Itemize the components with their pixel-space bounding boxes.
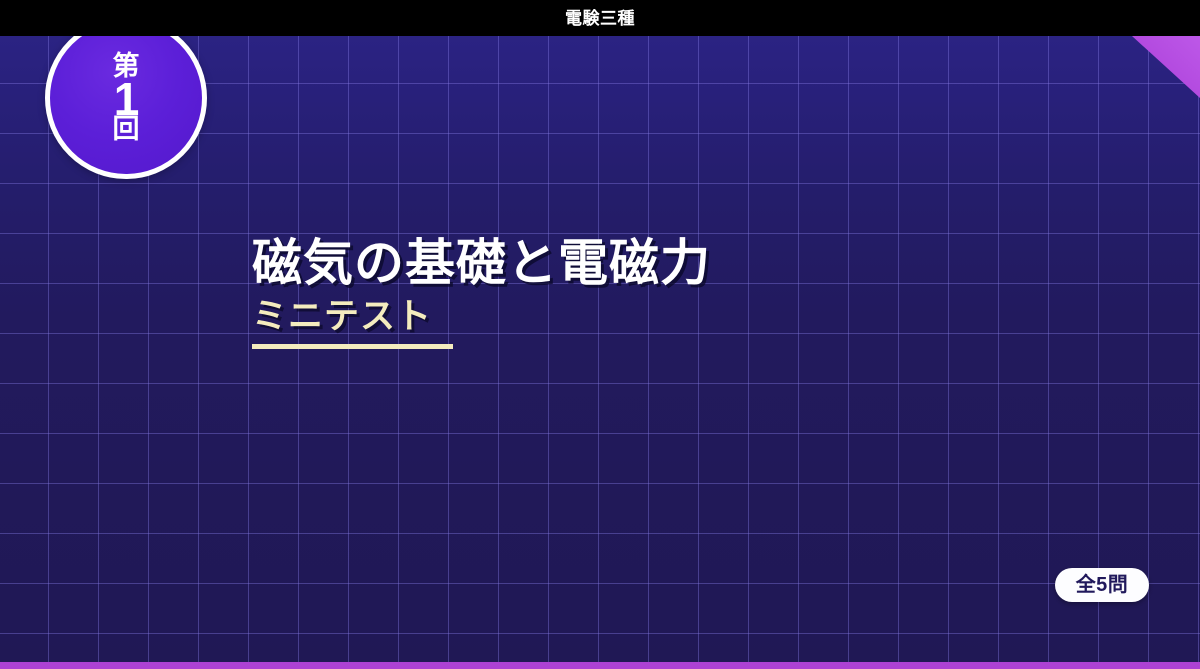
question-count-badge: 全5問 bbox=[1055, 568, 1149, 602]
header-title: 電験三種 bbox=[565, 10, 635, 27]
page-title: 磁気の基礎と電磁力 bbox=[252, 236, 711, 290]
header-bar: 電験三種 bbox=[0, 0, 1200, 36]
subtitle-underline bbox=[252, 344, 453, 349]
title-block: 磁気の基礎と電磁力 ミニテスト bbox=[252, 236, 711, 349]
round-badge-suffix-label: 回 bbox=[113, 116, 140, 143]
bottom-accent-strip bbox=[0, 662, 1200, 669]
round-number-badge: 第 1 回 bbox=[45, 17, 207, 179]
question-count-label: 全5問 bbox=[1076, 575, 1129, 595]
page-subtitle: ミニテスト bbox=[252, 298, 432, 337]
corner-triangle-decoration bbox=[1132, 36, 1200, 98]
slide-root: 電験三種 第 1 回 磁気の基礎と電磁力 ミニテスト 全5問 bbox=[0, 0, 1200, 669]
